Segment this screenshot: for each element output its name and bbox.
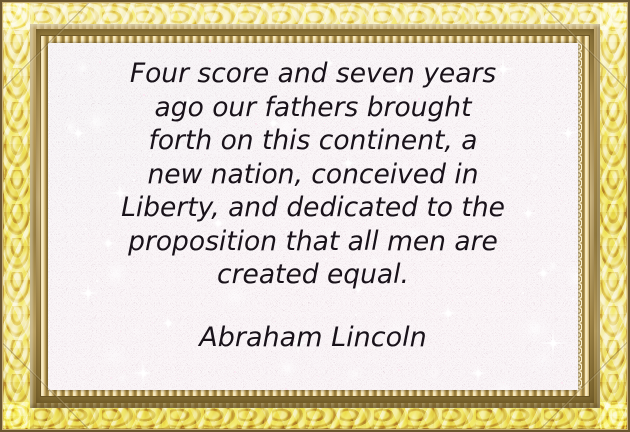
quote-line: ago our fathers brought [155, 91, 472, 125]
quote-line: forth on this continent, a [149, 124, 478, 158]
picture-canvas: Four score and seven years ago our fathe… [48, 43, 578, 390]
quote-text-block: Four score and seven years ago our fathe… [48, 43, 578, 390]
framed-quote-artwork: Four score and seven years ago our fathe… [0, 0, 630, 432]
quote-line: Four score and seven years [130, 57, 496, 91]
quote-line: new nation, conceived in [147, 158, 478, 192]
quote-line: proposition that all men are [128, 225, 498, 259]
quote-author: Abraham Lincoln [199, 322, 426, 354]
frame-ornament-right-stile [600, 0, 626, 432]
quote-line: Liberty, and dedicated to the [121, 191, 505, 225]
frame-ornament-left-stile [4, 0, 30, 432]
quote-line: created equal. [217, 258, 409, 292]
